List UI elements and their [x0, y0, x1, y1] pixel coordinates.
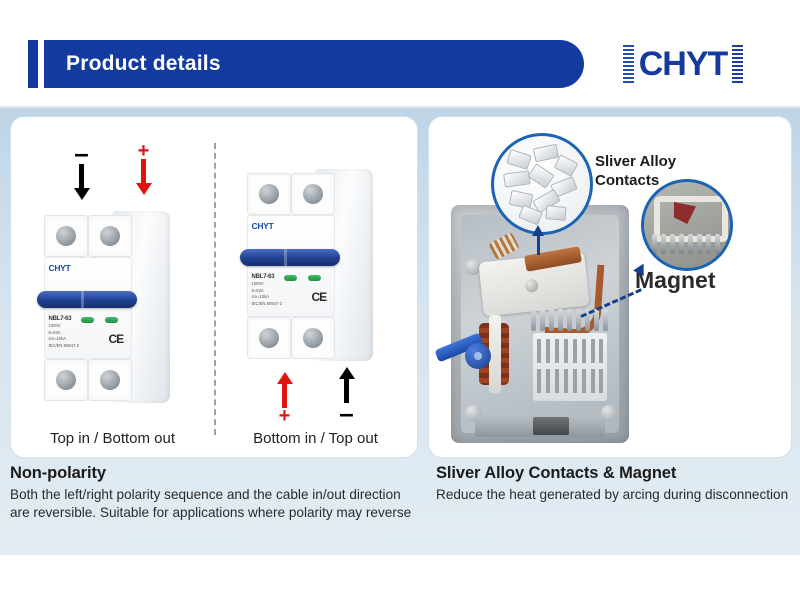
page-title: Product details [66, 52, 221, 76]
terminal-bottom-right [291, 317, 335, 359]
terminal-top-left [44, 215, 88, 257]
breaker-caption: Top in / Bottom out [11, 430, 214, 447]
din-rail-magnet-block [533, 417, 569, 435]
silver-alloy-callout-circle [491, 133, 593, 235]
left-caption-body: Both the left/right polarity sequence an… [10, 486, 420, 522]
indicator-led-right [308, 275, 321, 281]
right-caption-body: Reduce the heat generated by arcing duri… [436, 486, 792, 504]
device-brand: CHYT [252, 221, 274, 231]
arrow-negative-down: – [74, 143, 90, 200]
polarity-arrows-top: – + [11, 143, 214, 200]
terminal-bottom-right [88, 359, 132, 401]
ce-mark-icon: CE [312, 290, 327, 304]
breaker-cutaway-image [451, 205, 629, 443]
left-caption-title: Non-polarity [10, 464, 420, 483]
device-rating-label: NBL7-63 1000V 9=63A Icn=10kA IEC/EN 6094… [49, 316, 127, 352]
arc-chute [533, 333, 607, 401]
device-front-face: CHYT NBL7-63 1000V 9=63A Icn=10kA IEC/EN… [44, 215, 130, 399]
logo-wordmark: CHYT [639, 47, 728, 81]
ce-mark-icon: CE [109, 332, 124, 346]
right-caption-title: Sliver Alloy Contacts & Magnet [436, 464, 792, 483]
logo-left-bars-icon [623, 45, 634, 83]
left-caption-block: Non-polarity Both the left/right polarit… [10, 464, 420, 522]
toggle-lever[interactable] [37, 291, 137, 308]
magnet-callout-circle [641, 179, 733, 271]
device-center: CHYT NBL7-63 1000V 9=63A Icn=10kA IEC/EN… [44, 257, 132, 359]
arrow-positive-down: + [136, 143, 152, 200]
magnet-callout-label: Magnet [635, 267, 716, 294]
indicator-led-left [81, 317, 94, 323]
external-toggle-lever[interactable] [435, 333, 497, 367]
right-caption-block: Sliver Alloy Contacts & Magnet Reduce th… [436, 464, 792, 504]
breaker-bottom-in-top-out: CHYT NBL7-63 1000V 9=63A Icn=10kA IEC/EN… [214, 117, 417, 457]
page-header: Product details CHYT [0, 0, 800, 108]
device-front-face: CHYT NBL7-63 1000V 9=63A Icn=10kA IEC/EN… [247, 173, 333, 357]
arrow-negative-up: – [339, 367, 355, 424]
terminal-bottom-left [247, 317, 291, 359]
terminal-bottom-left [44, 359, 88, 401]
breaker-device: CHYT NBL7-63 1000V 9=63A Icn=10kA IEC/EN… [38, 207, 188, 407]
device-brand: CHYT [49, 263, 71, 273]
terminal-top-right [291, 173, 335, 215]
chyt-logo: CHYT [588, 40, 778, 88]
header-banner: Product details [44, 40, 584, 88]
device-rating-label: NBL7-63 1000V 9=63A Icn=10kA IEC/EN 6094… [252, 274, 330, 310]
polarity-arrows-bottom: + – [214, 367, 417, 424]
breaker-caption: Bottom in / Top out [214, 430, 417, 447]
toggle-lever[interactable] [240, 249, 340, 266]
arrow-positive-up: + [277, 367, 293, 424]
arc-splitter-plates [531, 309, 609, 335]
logo-right-bars-icon [732, 45, 743, 83]
terminal-top-left [247, 173, 291, 215]
breaker-top-in-bottom-out: – + CHYT [11, 117, 214, 457]
device-center: CHYT NBL7-63 1000V 9=63A Icn=10kA IEC/EN… [247, 215, 335, 317]
product-details-page: Product details CHYT – [0, 0, 800, 591]
indicator-led-right [105, 317, 118, 323]
silver-callout-arrow-icon [532, 225, 544, 236]
internal-structure-panel: Sliver Alloy Contacts Magnet [428, 116, 792, 458]
terminal-top-right [88, 215, 132, 257]
silver-callout-connector [537, 233, 540, 255]
non-polarity-panel: – + CHYT [10, 116, 418, 458]
breaker-device: CHYT NBL7-63 1000V 9=63A Icn=10kA IEC/EN… [241, 165, 391, 365]
content-area: – + CHYT [0, 108, 800, 555]
header-accent-bar [28, 40, 38, 88]
indicator-led-left [284, 275, 297, 281]
